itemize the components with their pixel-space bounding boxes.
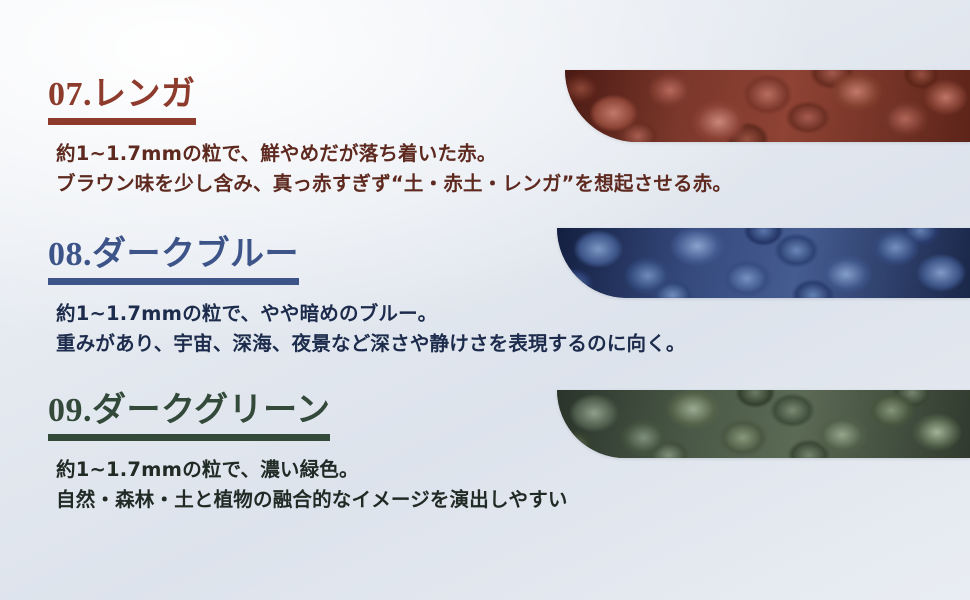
section-dark-blue-line-1: 約1~1.7mmの粒で、やや暗めのブルー。: [56, 299, 970, 329]
section-dark-green: 09.ダークグリーン 約1~1.7mmの粒で、濃い緑色。 自然・森林・土と植物の…: [0, 394, 970, 514]
section-dark-green-line-1: 約1~1.7mmの粒で、濃い緑色。: [56, 455, 970, 485]
section-brick-line-2: ブラウン味を少し含み、真っ赤すぎず“土・赤土・レンガ”を想起させる赤。: [56, 169, 970, 199]
section-brick-heading: 07.レンガ: [48, 78, 196, 125]
section-dark-green-heading: 09.ダークグリーン: [48, 394, 330, 441]
section-dark-blue-heading: 08.ダークブルー: [48, 238, 299, 285]
slide-canvas: 07.レンガ 約1~1.7mmの粒で、鮮やめだが落ち着いた赤。 ブラウン味を少し…: [0, 0, 970, 600]
section-dark-green-line-2: 自然・森林・土と植物の融合的なイメージを演出しやすい: [56, 485, 970, 515]
section-brick-line-1: 約1~1.7mmの粒で、鮮やめだが落ち着いた赤。: [56, 139, 970, 169]
section-dark-blue: 08.ダークブルー 約1~1.7mmの粒で、やや暗めのブルー。 重みがあり、宇宙…: [0, 238, 970, 358]
section-brick: 07.レンガ 約1~1.7mmの粒で、鮮やめだが落ち着いた赤。 ブラウン味を少し…: [0, 78, 970, 198]
section-dark-blue-line-2: 重みがあり、宇宙、深海、夜景など深さや静けさを表現するのに向く。: [56, 329, 970, 359]
